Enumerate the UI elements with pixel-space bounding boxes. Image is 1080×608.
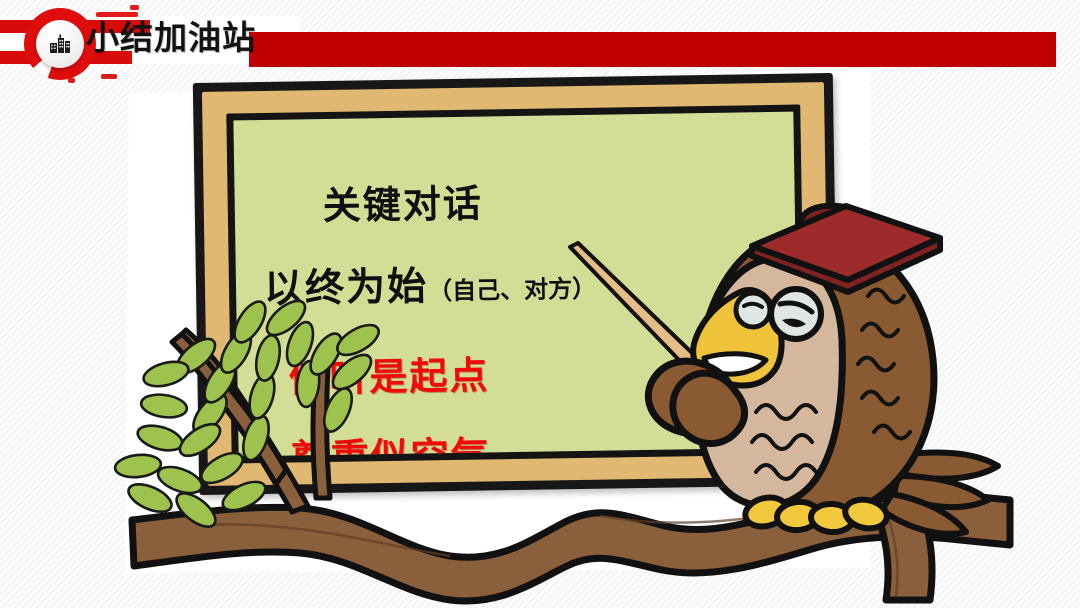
header-red-bar: [249, 32, 1056, 67]
chalkboard-text-block: 关键对话 以终为始（自己、对方） 倾听是起点 尊重似空气: [233, 112, 798, 457]
board-line-2-main: 以终为始: [264, 264, 429, 312]
header-accent-dash: [130, 5, 139, 10]
page-title: 小结加油站: [86, 21, 256, 54]
board-line-1: 关键对话: [322, 185, 483, 226]
slide-canvas: 小结加油站 关键对话 以终为始（自己、对方） 倾听是起点 尊重似空气: [0, 0, 1080, 608]
board-line-2-note: （自己、对方）: [428, 275, 596, 306]
board-line-3: 倾听是起点: [289, 356, 490, 397]
chalkboard-surface: 关键对话 以终为始（自己、对方） 倾听是起点 尊重似空气: [233, 112, 798, 457]
header-accent-dash: [96, 12, 138, 17]
board-line-2: 以终为始（自己、对方）: [264, 265, 597, 309]
header-accent-dash: [101, 74, 117, 79]
chalkboard: 关键对话 以终为始（自己、对方） 倾听是起点 尊重似空气: [193, 73, 839, 495]
factory-building-icon: [36, 20, 84, 68]
